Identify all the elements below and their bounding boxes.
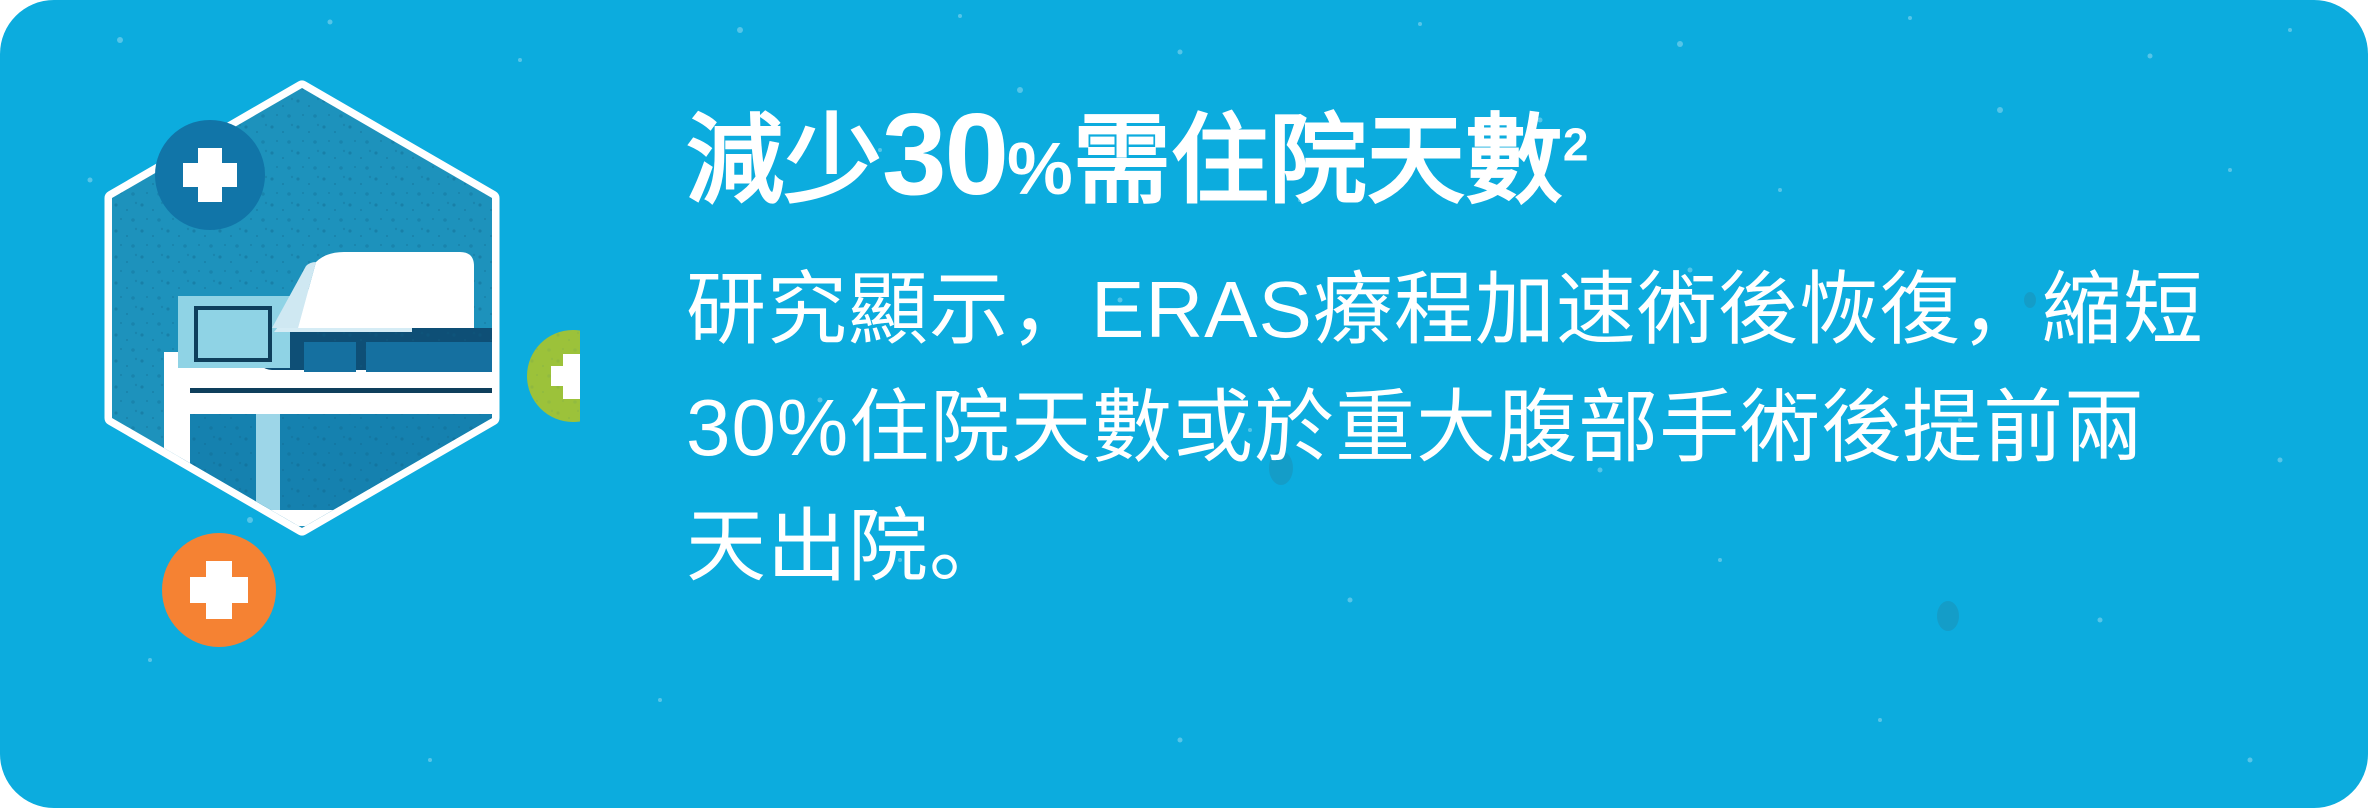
headline-prefix: 減少 (686, 105, 882, 215)
hospital-bed-illustration (60, 70, 580, 670)
copy-block: 減少30%需住院天數2 研究顯示，ERAS療程加速術後恢復，縮短30%住院天數或… (686, 86, 2246, 606)
infographic-card: 減少30%需住院天數2 研究顯示，ERAS療程加速術後恢復，縮短30%住院天數或… (0, 0, 2368, 808)
plus-badge-green (527, 330, 580, 422)
headline-number: 30 (882, 89, 1007, 219)
footnote-marker: 2 (1563, 118, 1589, 170)
plus-badge-blue (155, 120, 265, 230)
body-paragraph: 研究顯示，ERAS療程加速術後恢復，縮短30%住院天數或於重大腹部手術後提前兩天… (686, 251, 2216, 606)
headline-percent: % (1007, 127, 1073, 210)
headline-suffix: 需住院天數 (1073, 105, 1563, 215)
page-title: 減少30%需住院天數2 (686, 86, 2246, 223)
plus-badge-orange (162, 533, 276, 647)
